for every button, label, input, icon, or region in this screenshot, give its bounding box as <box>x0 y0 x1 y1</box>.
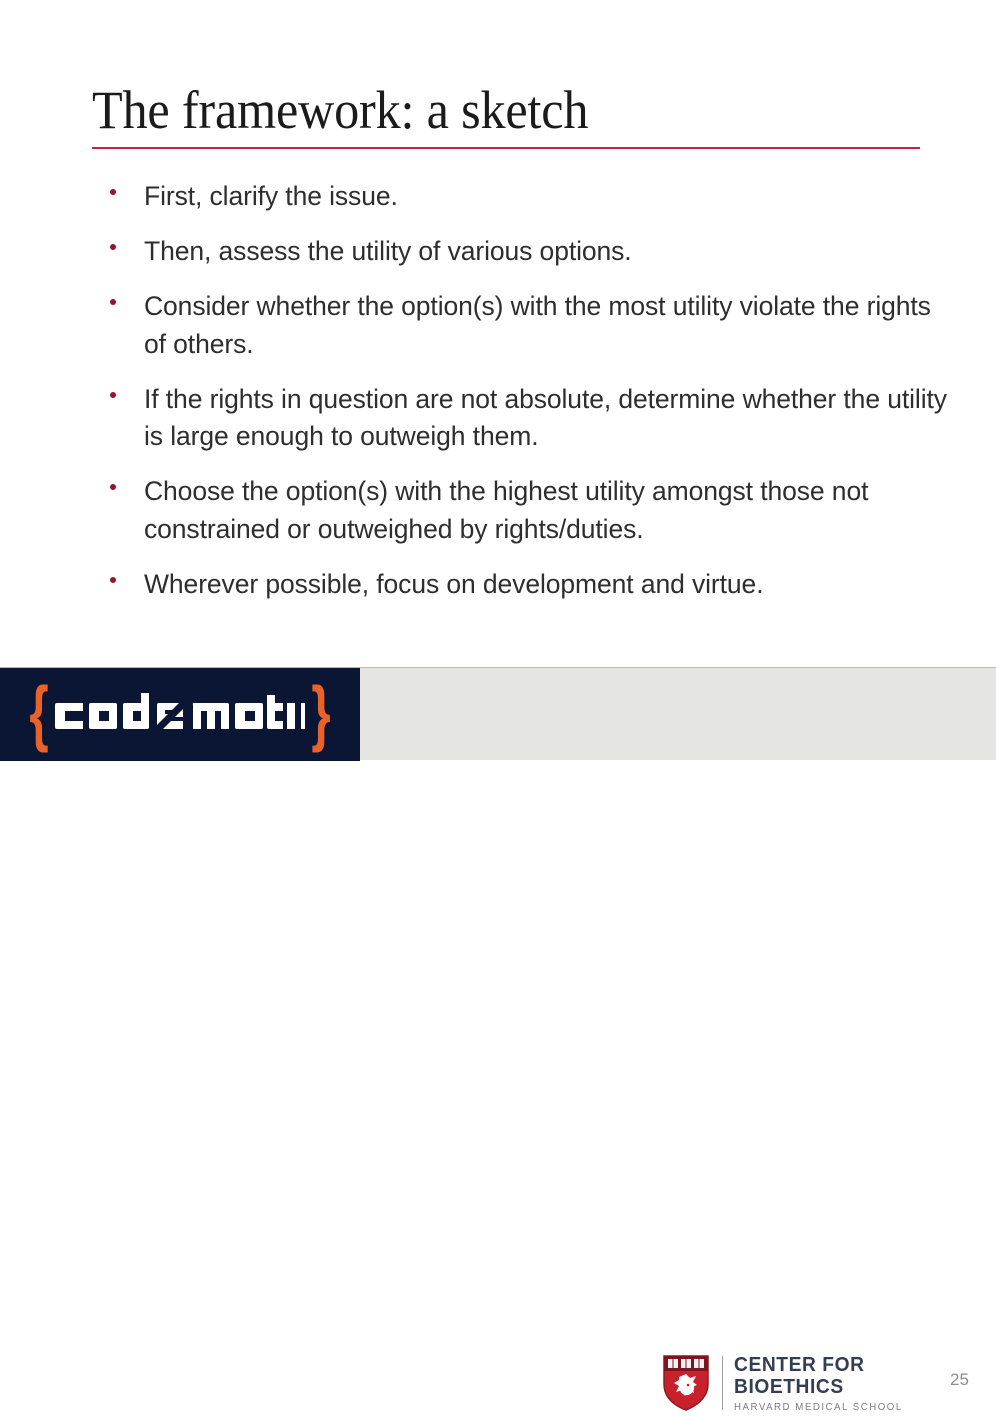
codemotion-right-brace: } <box>311 677 330 750</box>
list-item: Consider whether the option(s) with the … <box>110 288 950 364</box>
bullet-dot-icon <box>110 381 144 398</box>
list-item-text: Choose the option(s) with the highest ut… <box>144 473 950 549</box>
codemotion-logo-block: { <box>0 668 360 761</box>
list-item: If the rights in question are not absolu… <box>110 381 950 457</box>
list-item: Wherever possible, focus on development … <box>110 566 950 604</box>
logo-divider <box>722 1356 723 1410</box>
harvard-medical-school-shield-icon <box>663 1355 709 1411</box>
title-underline-rule <box>92 147 920 149</box>
codemotion-logo: { <box>27 686 333 742</box>
center-for-bioethics-wordmark: CENTER FOR BIOETHICS HARVARD MEDICAL SCH… <box>734 1353 908 1414</box>
title-block: The framework: a sketch <box>92 82 922 149</box>
codemotion-wordmark <box>55 691 305 737</box>
bullet-dot-icon <box>110 473 144 490</box>
bullet-dot-icon <box>110 178 144 195</box>
codemotion-left-brace: { <box>29 677 48 750</box>
list-item-text: First, clarify the issue. <box>144 178 950 216</box>
bioethics-line-1: CENTER FOR <box>734 1354 901 1376</box>
bullet-dot-icon <box>110 288 144 305</box>
bioethics-line-2: BIOETHICS <box>734 1376 901 1398</box>
slide-footer: { <box>0 667 996 760</box>
bullet-dot-icon <box>110 566 144 583</box>
bullet-list: First, clarify the issue. Then, assess t… <box>110 178 950 621</box>
list-item: Then, assess the utility of various opti… <box>110 233 950 271</box>
page-title: The framework: a sketch <box>92 82 864 138</box>
list-item-text: Then, assess the utility of various opti… <box>144 233 950 271</box>
page-number: 25 <box>950 1370 969 1390</box>
list-item-text: Wherever possible, focus on development … <box>144 566 950 604</box>
list-item: Choose the option(s) with the highest ut… <box>110 473 950 549</box>
slide: The framework: a sketch First, clarify t… <box>0 0 996 760</box>
list-item: First, clarify the issue. <box>110 178 950 216</box>
harvard-medical-school-subtitle: HARVARD MEDICAL SCHOOL <box>734 1402 903 1413</box>
center-for-bioethics-logo: CENTER FOR BIOETHICS HARVARD MEDICAL SCH… <box>663 1350 908 1416</box>
bullet-dot-icon <box>110 233 144 250</box>
list-item-text: Consider whether the option(s) with the … <box>144 288 950 364</box>
list-item-text: If the rights in question are not absolu… <box>144 381 950 457</box>
